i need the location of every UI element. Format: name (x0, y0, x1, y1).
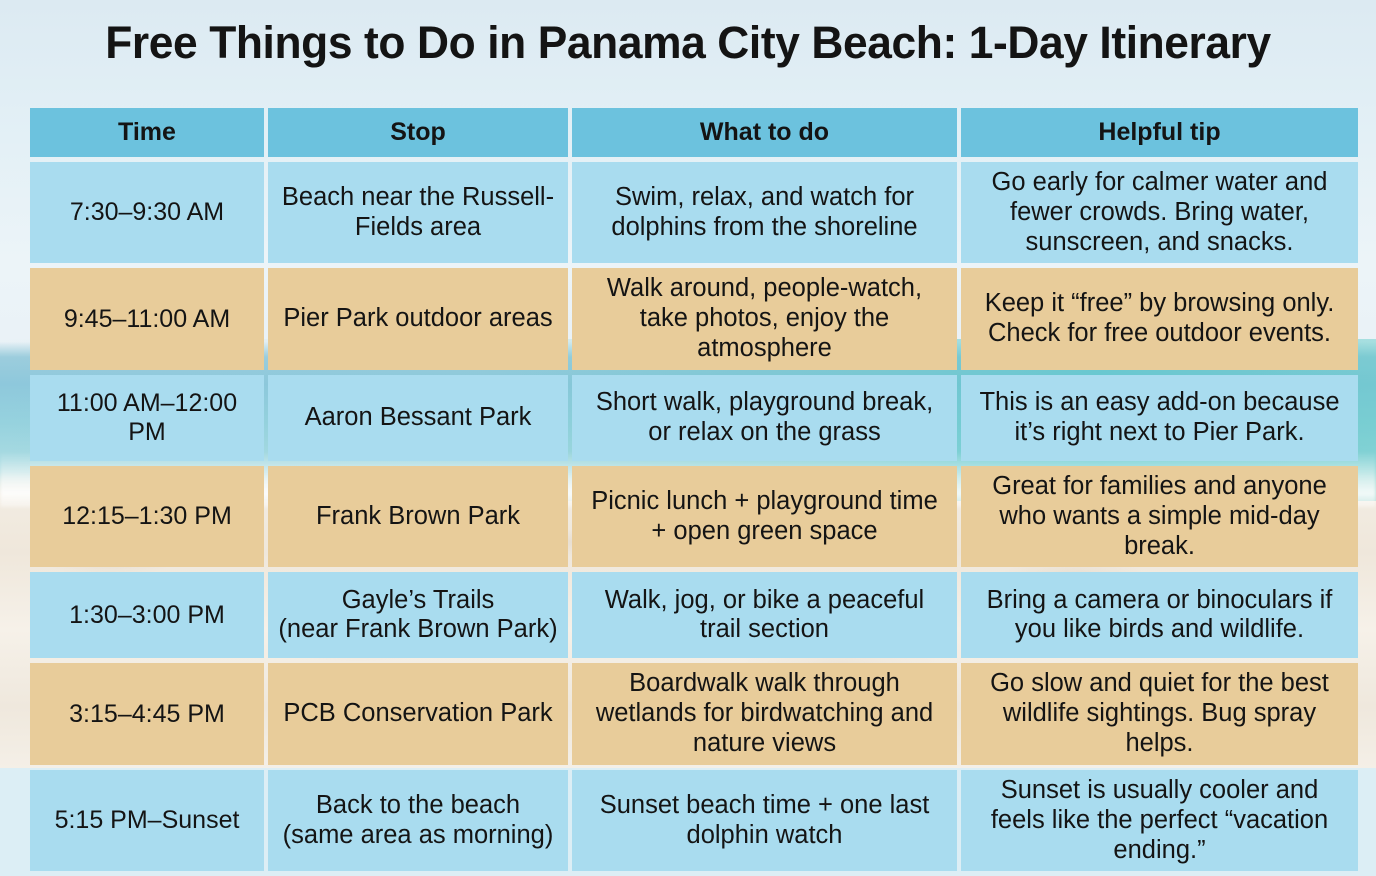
cell-what-to-do: Short walk, playground break, or relax o… (572, 375, 957, 461)
table-row: 1:30–3:00 PM Gayle’s Trails(near Frank B… (30, 572, 1358, 658)
page-title: Free Things to Do in Panama City Beach: … (10, 17, 1365, 69)
cell-time: 5:15 PM–Sunset (30, 770, 264, 871)
table-body: 7:30–9:30 AM Beach near the Russell-Fiel… (30, 162, 1358, 871)
cell-what-to-do: Walk around, people-watch, take photos, … (572, 268, 957, 369)
column-header-helpful-tip: Helpful tip (961, 108, 1358, 157)
cell-helpful-tip: Go slow and quiet for the best wildlife … (961, 663, 1358, 764)
cell-helpful-tip: Keep it “free” by browsing only. Check f… (961, 268, 1358, 369)
table-row: 11:00 AM–12:00 PM Aaron Bessant Park Sho… (30, 375, 1358, 461)
table-row: 7:30–9:30 AM Beach near the Russell-Fiel… (30, 162, 1358, 263)
cell-helpful-tip: This is an easy add-on because it’s righ… (961, 375, 1358, 461)
cell-stop: Back to the beach(same area as morning) (268, 770, 568, 871)
cell-time: 12:15–1:30 PM (30, 466, 264, 567)
cell-what-to-do: Sunset beach time + one last dolphin wat… (572, 770, 957, 871)
column-header-time: Time (30, 108, 264, 157)
table-row: 5:15 PM–Sunset Back to the beach(same ar… (30, 770, 1358, 871)
table-row: 9:45–11:00 AM Pier Park outdoor areas Wa… (30, 268, 1358, 369)
cell-time: 1:30–3:00 PM (30, 572, 264, 658)
cell-helpful-tip: Go early for calmer water and fewer crow… (961, 162, 1358, 263)
cell-stop: Aaron Bessant Park (268, 375, 568, 461)
cell-what-to-do: Walk, jog, or bike a peaceful trail sect… (572, 572, 957, 658)
cell-what-to-do: Swim, relax, and watch for dolphins from… (572, 162, 957, 263)
cell-stop: Beach near the Russell-Fields area (268, 162, 568, 263)
cell-stop: Pier Park outdoor areas (268, 268, 568, 369)
cell-what-to-do: Picnic lunch + playground time + open gr… (572, 466, 957, 567)
cell-time: 9:45–11:00 AM (30, 268, 264, 369)
column-header-stop: Stop (268, 108, 568, 157)
cell-stop: Frank Brown Park (268, 466, 568, 567)
cell-what-to-do: Boardwalk walk through wetlands for bird… (572, 663, 957, 764)
cell-helpful-tip: Bring a camera or binoculars if you like… (961, 572, 1358, 658)
cell-time: 3:15–4:45 PM (30, 663, 264, 764)
table-header: Time Stop What to do Helpful tip (30, 108, 1358, 157)
infographic-page: Free Things to Do in Panama City Beach: … (0, 0, 1376, 768)
table-header-row: Time Stop What to do Helpful tip (30, 108, 1358, 157)
table-row: 12:15–1:30 PM Frank Brown Park Picnic lu… (30, 466, 1358, 567)
cell-time: 11:00 AM–12:00 PM (30, 375, 264, 461)
cell-helpful-tip: Sunset is usually cooler and feels like … (961, 770, 1358, 871)
cell-helpful-tip: Great for families and anyone who wants … (961, 466, 1358, 567)
table-row: 3:15–4:45 PM PCB Conservation Park Board… (30, 663, 1358, 764)
itinerary-table: Time Stop What to do Helpful tip 7:30–9:… (26, 103, 1362, 876)
column-header-what-to-do: What to do (572, 108, 957, 157)
cell-stop: PCB Conservation Park (268, 663, 568, 764)
cell-time: 7:30–9:30 AM (30, 162, 264, 263)
cell-stop: Gayle’s Trails(near Frank Brown Park) (268, 572, 568, 658)
